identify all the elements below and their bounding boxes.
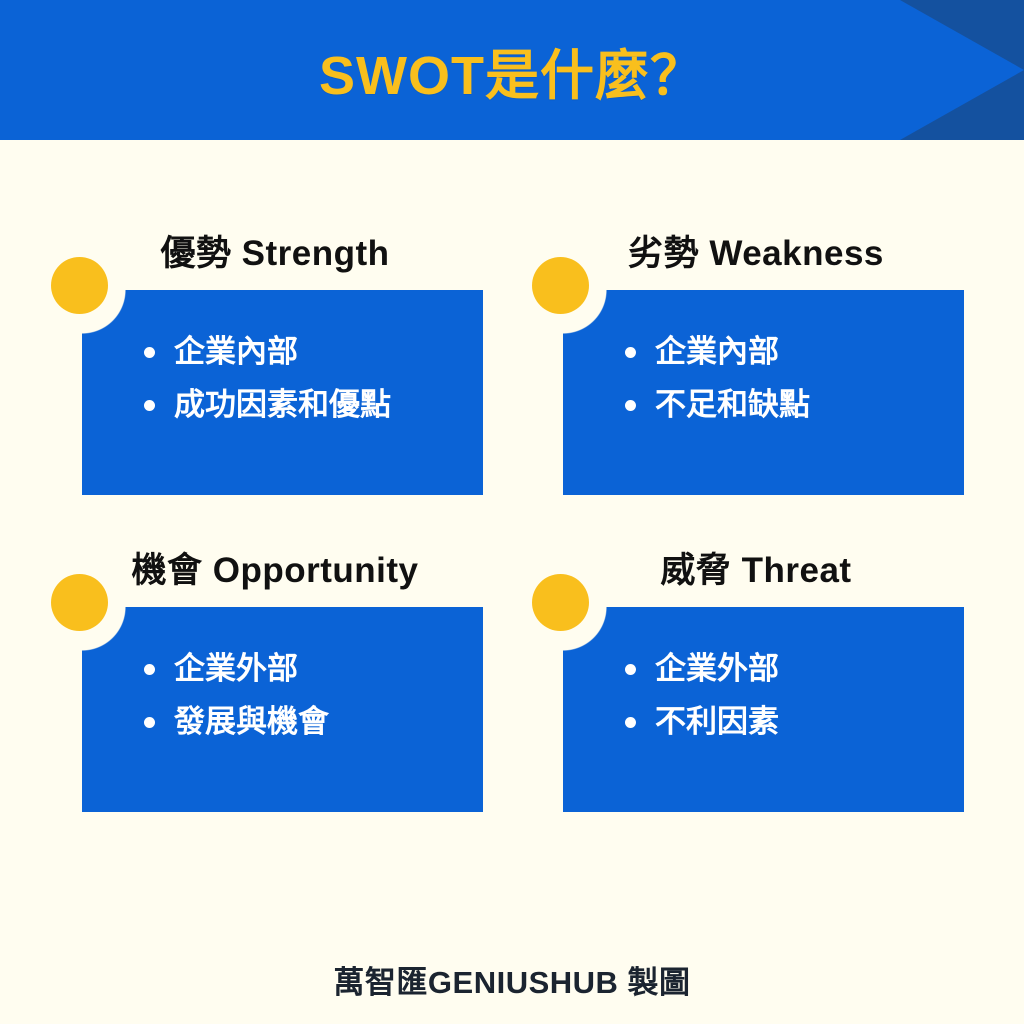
list-item: 不利因素 xyxy=(625,706,945,737)
list-item: 企業內部 xyxy=(625,336,945,367)
quadrant-heading-threat: 威脅 Threat xyxy=(531,542,981,593)
list-item-label: 發展與機會 xyxy=(174,704,329,739)
bullet-icon xyxy=(625,664,636,675)
quadrant-body-opportunity: 企業外部 發展與機會 xyxy=(82,607,483,812)
quadrant-strength: 優勢 Strength 企業內部 成功因素和優點 xyxy=(50,225,510,525)
quadrant-body-strength: 企業內部 成功因素和優點 xyxy=(82,290,483,495)
quadrant-list-threat: 企業外部 不利因素 xyxy=(625,653,945,759)
quadrant-body-weakness: 企業內部 不足和缺點 xyxy=(563,290,964,495)
list-item: 企業內部 xyxy=(144,336,464,367)
bullet-icon xyxy=(625,717,636,728)
list-item: 不足和缺點 xyxy=(625,389,945,420)
bullet-icon xyxy=(144,347,155,358)
quadrant-heading-opportunity: 機會 Opportunity xyxy=(50,542,500,593)
bullet-icon xyxy=(144,664,155,675)
quadrant-list-weakness: 企業內部 不足和缺點 xyxy=(625,336,945,442)
quadrant-panel-opportunity: 企業外部 發展與機會 xyxy=(82,607,483,812)
quadrant-dot-weakness xyxy=(532,257,589,314)
quadrant-body-threat: 企業外部 不利因素 xyxy=(563,607,964,812)
quadrant-panel-strength: 企業內部 成功因素和優點 xyxy=(82,290,483,495)
swot-quadrant-grid: 優勢 Strength 企業內部 成功因素和優點 劣勢 Weakness 企業內… xyxy=(0,140,1024,930)
list-item: 發展與機會 xyxy=(144,706,464,737)
quadrant-dot-opportunity xyxy=(51,574,108,631)
list-item-label: 不足和缺點 xyxy=(655,387,810,422)
quadrant-weakness: 劣勢 Weakness 企業內部 不足和缺點 xyxy=(531,225,991,525)
footer-credit: 萬智匯GENIUSHUB 製圖 xyxy=(0,957,1024,1002)
quadrant-list-opportunity: 企業外部 發展與機會 xyxy=(144,653,464,759)
quadrant-heading-strength: 優勢 Strength xyxy=(50,225,500,276)
bullet-icon xyxy=(144,400,155,411)
quadrant-panel-weakness: 企業內部 不足和缺點 xyxy=(563,290,964,495)
list-item: 成功因素和優點 xyxy=(144,389,464,420)
quadrant-dot-strength xyxy=(51,257,108,314)
list-item-label: 企業外部 xyxy=(174,651,298,686)
quadrant-opportunity: 機會 Opportunity 企業外部 發展與機會 xyxy=(50,542,510,842)
bullet-icon xyxy=(625,400,636,411)
list-item-label: 成功因素和優點 xyxy=(174,387,391,422)
list-item-label: 企業內部 xyxy=(655,334,779,369)
quadrant-list-strength: 企業內部 成功因素和優點 xyxy=(144,336,464,442)
bullet-icon xyxy=(625,347,636,358)
list-item-label: 企業外部 xyxy=(655,651,779,686)
list-item: 企業外部 xyxy=(625,653,945,684)
header-banner: SWOT是什麼？ xyxy=(0,0,1024,140)
quadrant-heading-weakness: 劣勢 Weakness xyxy=(531,225,981,276)
quadrant-threat: 威脅 Threat 企業外部 不利因素 xyxy=(531,542,991,842)
page-title: SWOT是什麼？ xyxy=(0,0,1024,140)
bullet-icon xyxy=(144,717,155,728)
list-item-label: 企業內部 xyxy=(174,334,298,369)
list-item-label: 不利因素 xyxy=(655,704,779,739)
quadrant-panel-threat: 企業外部 不利因素 xyxy=(563,607,964,812)
list-item: 企業外部 xyxy=(144,653,464,684)
quadrant-dot-threat xyxy=(532,574,589,631)
